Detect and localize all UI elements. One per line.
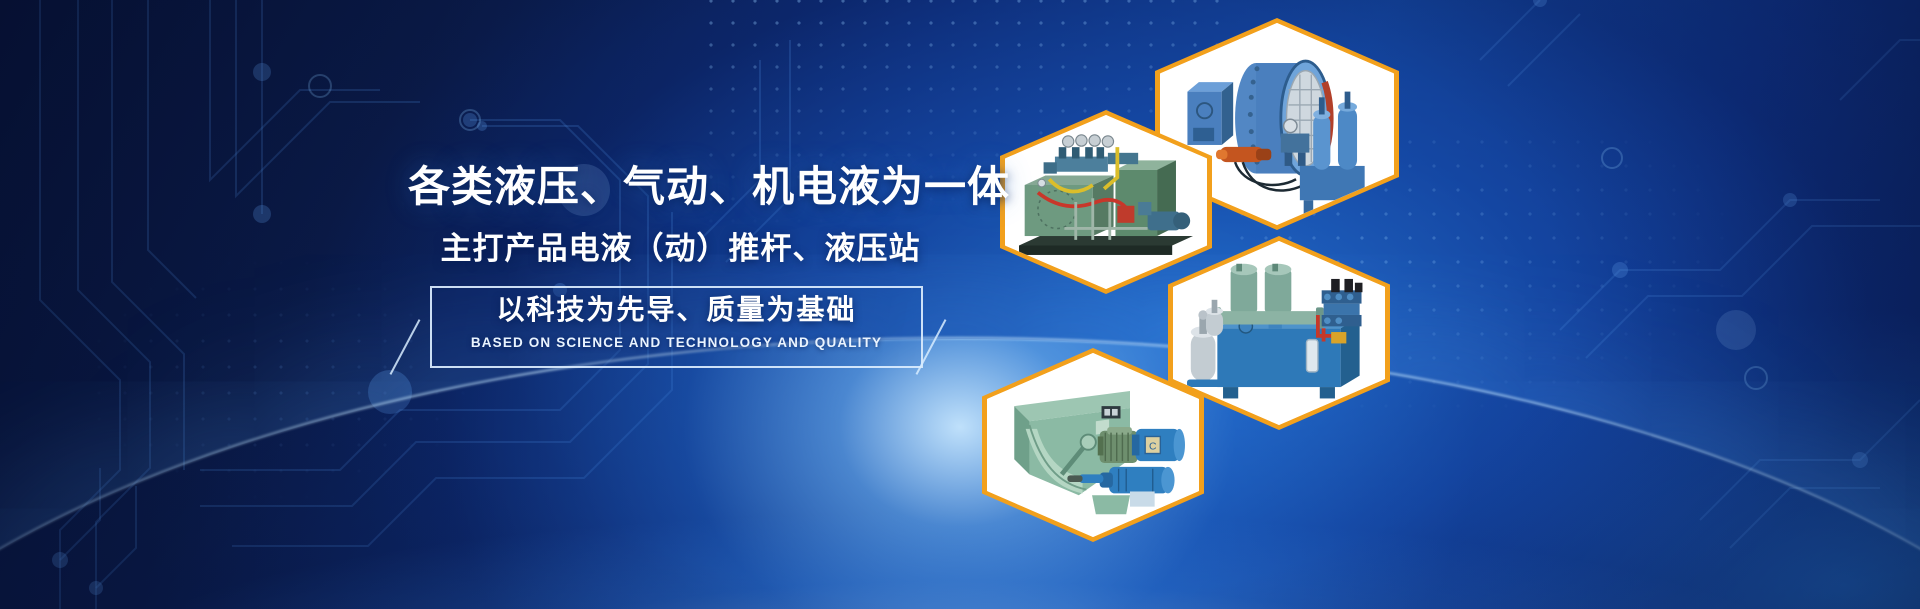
earth-horizon-rim [0, 337, 1920, 609]
tagline-box [430, 286, 923, 368]
vignette-overlay [0, 0, 1920, 609]
tagline-english: BASED ON SCIENCE AND TECHNOLOGY AND QUAL… [430, 336, 923, 350]
hero-banner: C [0, 0, 1920, 609]
banner-copy: 各类液压、气动、机电液为一体 主打产品电液（动）推杆、液压站 以科技为先导、质量… [0, 0, 1920, 609]
product-image-electro-hydraulic-pusher: C [987, 353, 1199, 537]
banner-headline: 各类液压、气动、机电液为一体 [408, 166, 953, 208]
banner-subheadline: 主打产品电液（动）推杆、液压站 [408, 233, 953, 264]
circuit-board-pattern [0, 0, 1920, 609]
earth-glow [0, 379, 1920, 609]
tagline-chinese: 以科技为先导、质量为基础 [430, 296, 923, 324]
dot-grid-left [60, 250, 490, 510]
tagline-left-slash [404, 316, 406, 378]
tagline-right-slash [930, 316, 932, 378]
svg-text:C: C [1149, 442, 1157, 453]
product-image-pump-station [1005, 115, 1207, 289]
earth-horizon [0, 339, 1920, 609]
product-image-power-unit [1173, 241, 1385, 425]
